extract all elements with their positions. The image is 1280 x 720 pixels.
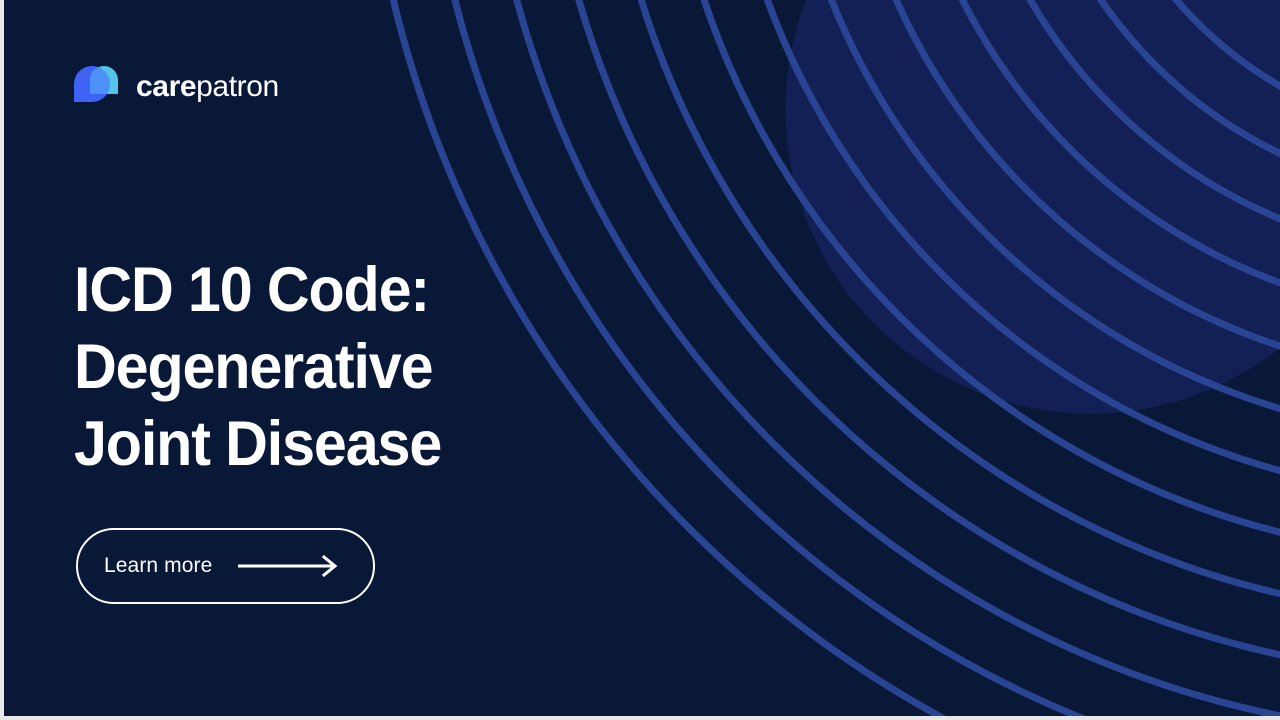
- page-title-line-1: ICD 10 Code: Degenerative: [74, 255, 432, 402]
- brand-logo[interactable]: carepatron: [72, 62, 279, 112]
- brand-wordmark: carepatron: [136, 72, 279, 102]
- carepatron-hero-banner: carepatron ICD 10 Code: Degenerative Joi…: [0, 0, 1280, 720]
- arrow-right-icon: [236, 555, 344, 577]
- page-title: ICD 10 Code: Degenerative Joint Disease: [74, 252, 788, 483]
- background-circle: [786, 0, 1280, 414]
- page-title-line-2: Joint Disease: [74, 409, 441, 479]
- learn-more-label: Learn more: [104, 554, 212, 578]
- brand-name-bold: care: [136, 72, 196, 102]
- brand-name-light: patron: [196, 72, 279, 102]
- carepatron-logo-mark-icon: [72, 64, 124, 110]
- learn-more-button[interactable]: Learn more: [76, 528, 375, 604]
